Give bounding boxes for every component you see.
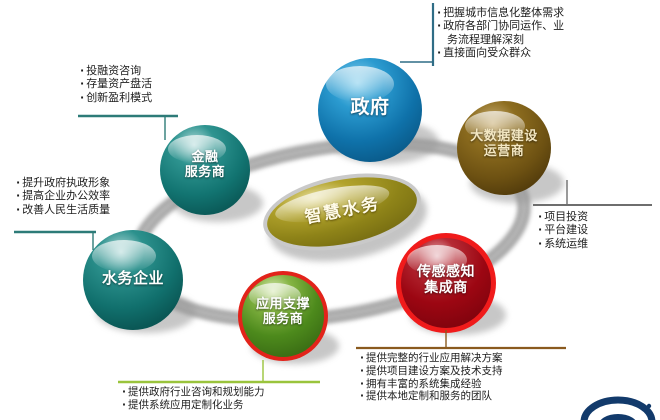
callout-line: 系统运维	[538, 237, 588, 250]
callout-line: 政府各部门协同运作、业	[437, 19, 564, 32]
callout-sensing: 提供完整的行业应用解决方案 提供项目建设方案及技术支持 拥有丰富的系统集成经验 …	[360, 352, 503, 403]
leader-government	[400, 3, 433, 66]
diagram-canvas: 政府 大数据建设 运营商 金融 服务商 水务企业 应用支撑 服务商 传感感知 集…	[0, 0, 660, 420]
callout-line: 存量资产盘活	[80, 77, 152, 90]
node-government[interactable]	[318, 58, 422, 162]
callout-line: 创新盈利模式	[80, 91, 152, 104]
callout-line: 提供本地定制和服务的团队	[360, 390, 503, 403]
callout-line: 直接面向受众群众	[437, 46, 564, 59]
callout-line: 平台建设	[538, 223, 588, 236]
node-app-support[interactable]	[238, 271, 328, 361]
callout-line: 提高企业办公效率	[16, 189, 110, 202]
node-sensing-integrator[interactable]	[396, 233, 496, 333]
callout-water: 提升政府执政形象 提高企业办公效率 改善人民生活质量	[16, 176, 110, 216]
callout-government: 把握城市信息化整体需求 政府各部门协同运作、业 务流程理解深刻 直接面向受众群众	[437, 6, 564, 60]
callout-finance: 投融资咨询 存量资产盘活 创新盈利模式	[80, 64, 152, 104]
leader-finance	[78, 116, 178, 140]
callout-line: 务流程理解深刻	[437, 33, 564, 46]
callout-line: 拥有丰富的系统集成经验	[360, 378, 503, 391]
callout-line: 改善人民生活质量	[16, 203, 110, 216]
callout-line: 提升政府执政形象	[16, 176, 110, 189]
callout-line: 把握城市信息化整体需求	[437, 6, 564, 19]
callout-appsupport: 提供政府行业咨询和规划能力 提供系统应用定制化业务	[122, 386, 265, 412]
callout-line: 提供项目建设方案及技术支持	[360, 365, 503, 378]
callout-line: 提供完整的行业应用解决方案	[360, 352, 503, 365]
callout-line: 提供政府行业咨询和规划能力	[122, 386, 265, 399]
logo-mark	[584, 400, 652, 420]
leader-water	[14, 232, 96, 250]
node-water-enterprise[interactable]	[83, 230, 183, 330]
corner-logo	[574, 386, 660, 420]
callout-bigdata: 项目投资 平台建设 系统运维	[538, 210, 588, 250]
node-finance-provider[interactable]	[160, 125, 250, 215]
node-bigdata-operator[interactable]	[457, 101, 551, 195]
callout-line: 投融资咨询	[80, 64, 152, 77]
callout-line: 提供系统应用定制化业务	[122, 399, 265, 412]
callout-line: 项目投资	[538, 210, 588, 223]
